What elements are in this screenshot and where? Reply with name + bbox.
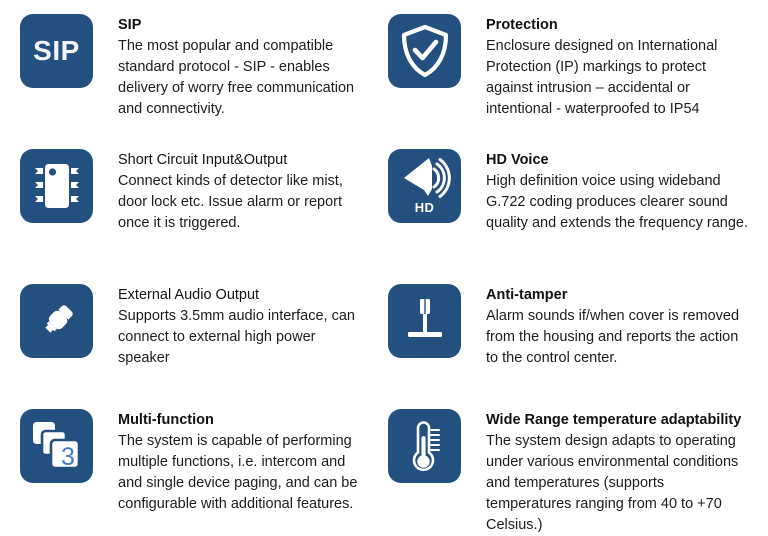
- stacked-squares-count-label: 3: [61, 445, 75, 470]
- feature-title: Anti-tamper: [486, 285, 753, 306]
- feature-item-multi-function: 3 Multi-function The system is capable o…: [0, 395, 384, 529]
- feature-item-short-circuit-io: Short Circuit Input&Output Connect kinds…: [0, 135, 384, 270]
- feature-text-wide-range-temperature: Wide Range temperature adaptability The …: [461, 409, 753, 536]
- feature-item-sip: SIP SIP The most popular and compatible …: [0, 0, 384, 135]
- feature-item-protection: Protection Enclosure designed on Interna…: [384, 0, 768, 135]
- sip-icon: SIP: [20, 14, 93, 88]
- shield-check-icon: [388, 14, 461, 88]
- feature-text-short-circuit-io: Short Circuit Input&Output Connect kinds…: [93, 149, 361, 234]
- feature-text-protection: Protection Enclosure designed on Interna…: [461, 14, 753, 120]
- feature-text-external-audio-output: External Audio Output Supports 3.5mm aud…: [93, 284, 361, 369]
- feature-item-hd-voice: HD HD Voice High definition voice using …: [384, 135, 768, 270]
- stacked-squares-icon: 3: [20, 409, 93, 483]
- speaker-hd-icon: HD: [388, 149, 461, 223]
- feature-title: Short Circuit Input&Output: [118, 150, 361, 171]
- feature-description: The system design adapts to operating un…: [486, 431, 753, 536]
- feature-text-anti-tamper: Anti-tamper Alarm sounds if/when cover i…: [461, 284, 753, 369]
- feature-description: High definition voice using wideband G.7…: [486, 171, 753, 234]
- screwdriver-icon: [388, 284, 461, 358]
- feature-title: Wide Range temperature adaptability: [486, 410, 753, 431]
- feature-text-multi-function: Multi-function The system is capable of …: [93, 409, 361, 515]
- audio-jack-icon: [20, 284, 93, 358]
- feature-description: Enclosure designed on International Prot…: [486, 36, 753, 120]
- feature-item-wide-range-temperature: Wide Range temperature adaptability The …: [384, 395, 768, 529]
- feature-text-sip: SIP The most popular and compatible stan…: [93, 14, 361, 120]
- feature-title: Protection: [486, 15, 753, 36]
- feature-description: Supports 3.5mm audio interface, can conn…: [118, 306, 361, 369]
- thermometer-icon: [388, 409, 461, 483]
- feature-description: The most popular and compatible standard…: [118, 36, 361, 120]
- feature-grid: SIP SIP The most popular and compatible …: [0, 0, 768, 529]
- feature-item-external-audio-output: External Audio Output Supports 3.5mm aud…: [0, 270, 384, 395]
- sip-icon-label: SIP: [33, 37, 80, 65]
- chip-icon: [20, 149, 93, 223]
- feature-title: Multi-function: [118, 410, 361, 431]
- feature-title: SIP: [118, 15, 361, 36]
- feature-description: Alarm sounds if/when cover is removed fr…: [486, 306, 753, 369]
- feature-description: The system is capable of performing mult…: [118, 431, 361, 515]
- hd-badge-label: HD: [388, 201, 461, 214]
- feature-title: HD Voice: [486, 150, 753, 171]
- feature-text-hd-voice: HD Voice High definition voice using wid…: [461, 149, 753, 234]
- feature-item-anti-tamper: Anti-tamper Alarm sounds if/when cover i…: [384, 270, 768, 395]
- feature-title: External Audio Output: [118, 285, 361, 306]
- feature-description: Connect kinds of detector like mist, doo…: [118, 171, 361, 234]
